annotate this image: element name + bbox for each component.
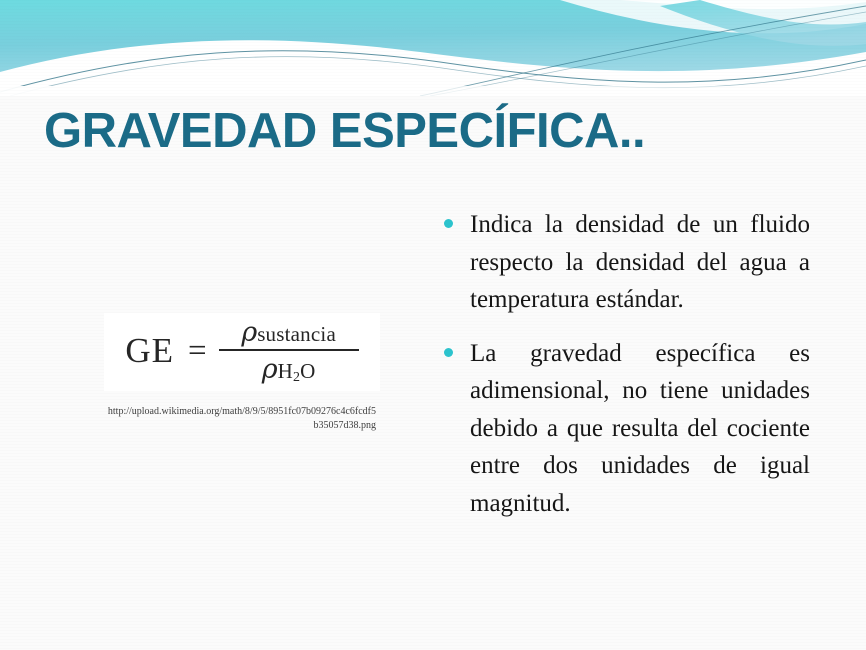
fraction-denominator: ρ H 2 O bbox=[260, 351, 318, 383]
decorative-wave-banner bbox=[0, 0, 866, 96]
page-title: GRAVEDAD ESPECÍFICA.. bbox=[44, 103, 645, 159]
rho-symbol-denominator: ρ bbox=[262, 356, 278, 383]
bullet-dot-icon bbox=[444, 219, 453, 228]
bullet-dot-icon bbox=[444, 348, 453, 357]
list-item: Indica la densidad de un fluido respecto… bbox=[440, 206, 810, 319]
equation-lhs: GE bbox=[125, 331, 174, 371]
list-item-text: La gravedad específica es adimensional, … bbox=[470, 340, 810, 517]
equals-sign: = bbox=[188, 333, 207, 370]
fraction: ρ sustancia ρ H 2 O bbox=[219, 319, 359, 383]
list-item-text: Indica la densidad de un fluido respecto… bbox=[470, 211, 810, 313]
presentation-slide: GRAVEDAD ESPECÍFICA.. GE = ρ sustancia ρ… bbox=[0, 0, 866, 650]
list-item: La gravedad específica es adimensional, … bbox=[440, 335, 810, 523]
denominator-subscript-o: O bbox=[300, 361, 315, 382]
rho-symbol-numerator: ρ bbox=[241, 319, 257, 346]
specific-gravity-equation: GE = ρ sustancia ρ H 2 O bbox=[125, 319, 358, 383]
fraction-numerator: ρ sustancia bbox=[239, 319, 338, 349]
denominator-subscript-h: H bbox=[278, 361, 293, 382]
formula-source-url: http://upload.wikimedia.org/math/8/9/5/8… bbox=[104, 405, 380, 432]
formula-block: GE = ρ sustancia ρ H 2 O http:/ bbox=[104, 313, 380, 432]
denominator-subscript-2: 2 bbox=[293, 371, 300, 385]
numerator-subscript: sustancia bbox=[257, 324, 336, 345]
bullet-list: Indica la densidad de un fluido respecto… bbox=[440, 206, 810, 522]
formula-image: GE = ρ sustancia ρ H 2 O bbox=[104, 313, 380, 391]
